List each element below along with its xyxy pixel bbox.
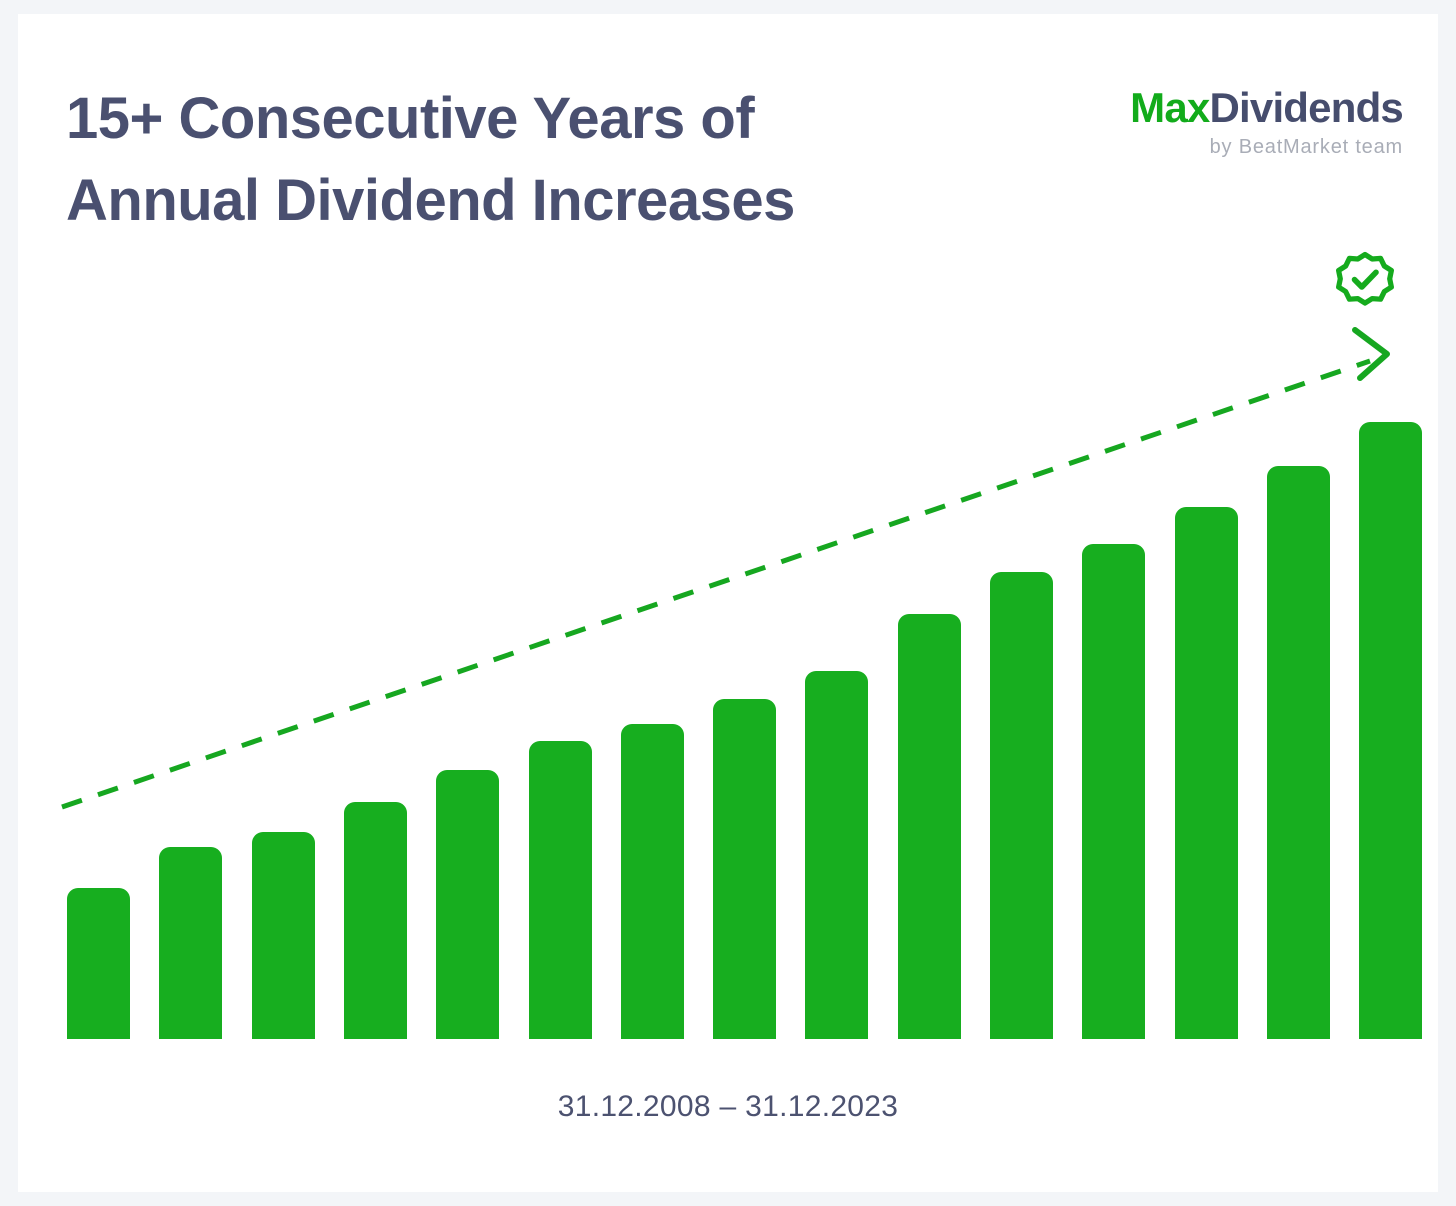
bar-2012 [344, 802, 407, 1039]
bar-2021 [1175, 507, 1238, 1039]
bar-2015 [621, 724, 684, 1039]
bar-2018 [898, 614, 961, 1039]
bar-2010 [159, 847, 222, 1039]
bar-2019 [990, 572, 1053, 1039]
bar-2011 [252, 832, 315, 1039]
bar-2013 [436, 770, 499, 1039]
chart-plot-area [18, 14, 1438, 1074]
infographic-card: 15+ Consecutive Years of Annual Dividend… [18, 14, 1438, 1192]
bar-2020 [1082, 544, 1145, 1039]
date-range-caption: 31.12.2008 – 31.12.2023 [18, 1090, 1438, 1124]
bar-2014 [529, 741, 592, 1039]
bar-2016 [713, 699, 776, 1039]
bar-series [18, 14, 1438, 1074]
bar-2009 [67, 888, 130, 1039]
bar-2022 [1267, 466, 1330, 1039]
bar-2023 [1359, 422, 1422, 1039]
bar-2017 [805, 671, 868, 1039]
